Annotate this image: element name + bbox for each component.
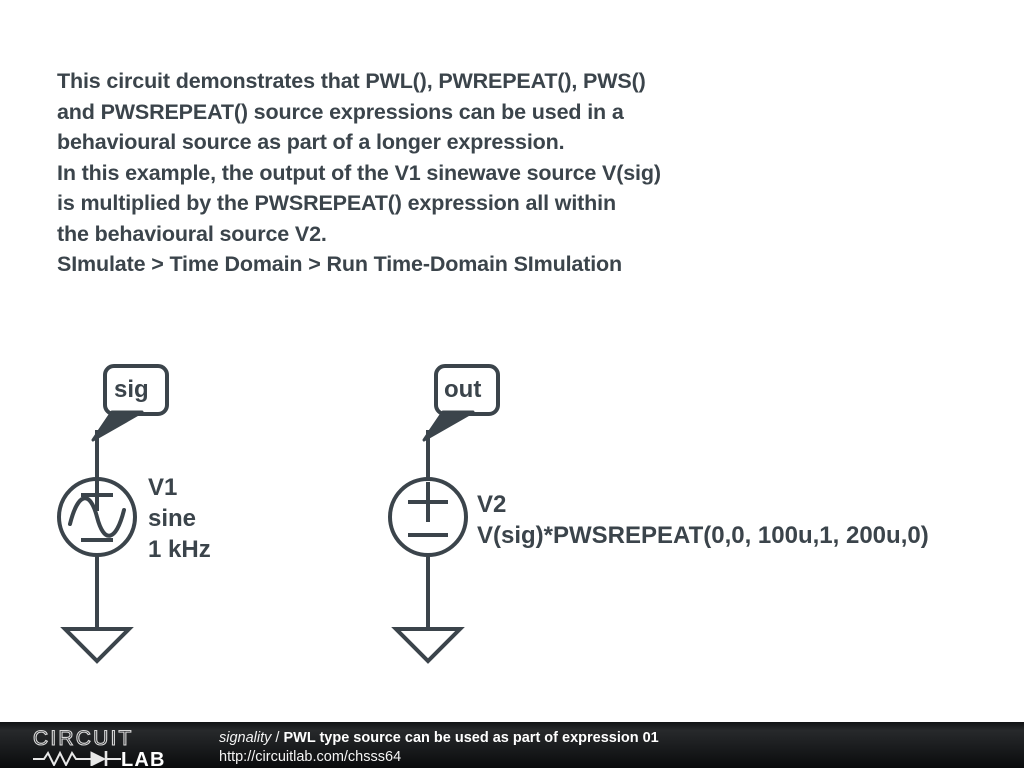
logo-resistor-icon bbox=[33, 753, 91, 765]
footer-separator: / bbox=[271, 730, 283, 746]
circuitlab-logo[interactable]: CIRCUIT LAB bbox=[33, 728, 193, 766]
out-node-label[interactable]: out bbox=[444, 376, 481, 404]
logo-circuit-text: CIRCUIT bbox=[33, 728, 134, 750]
v2-name: V2 bbox=[477, 489, 929, 520]
v1-annotation[interactable]: V1 sine 1 kHz bbox=[148, 472, 211, 565]
v1-name: V1 bbox=[148, 472, 211, 503]
circuit-drawing bbox=[0, 0, 1024, 768]
footer-author: signality bbox=[219, 730, 271, 746]
v2-expression: V(sig)*PWSREPEAT(0,0, 100u,1, 200u,0) bbox=[477, 520, 929, 551]
v1-frequency: 1 kHz bbox=[148, 534, 211, 565]
v1-ground-icon bbox=[65, 629, 129, 661]
out-node-badge-tail bbox=[424, 412, 473, 440]
v2-ground-icon bbox=[396, 629, 460, 661]
v1-type: sine bbox=[148, 503, 211, 534]
footer-title: PWL type source can be used as part of e… bbox=[283, 730, 658, 746]
logo-diode-icon bbox=[91, 751, 121, 766]
sig-node-badge-tail bbox=[93, 412, 142, 440]
footer-text-block: signality / PWL type source can be used … bbox=[219, 729, 659, 767]
logo-lab-text: LAB bbox=[121, 749, 166, 766]
sig-node-label[interactable]: sig bbox=[114, 376, 149, 404]
v2-annotation[interactable]: V2 V(sig)*PWSREPEAT(0,0, 100u,1, 200u,0) bbox=[477, 489, 929, 551]
footer-title-line: signality / PWL type source can be used … bbox=[219, 729, 659, 748]
footer-url[interactable]: http://circuitlab.com/chsss64 bbox=[219, 748, 659, 767]
